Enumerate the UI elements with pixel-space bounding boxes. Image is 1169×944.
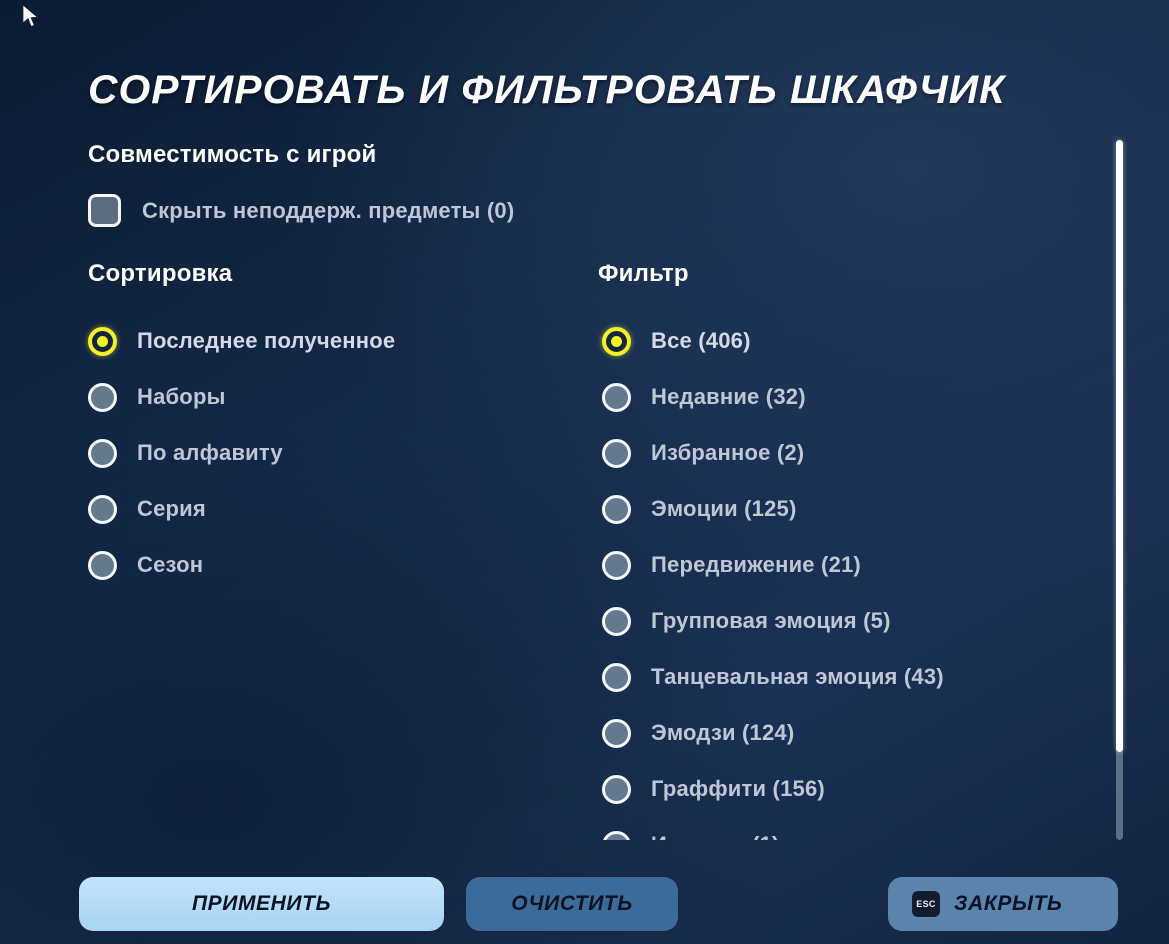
filter-option-label: Эмодзи (124) xyxy=(651,720,794,746)
checkbox-icon[interactable] xyxy=(88,194,121,227)
filter-option-row[interactable]: Эмодзи (124) xyxy=(602,705,944,761)
filter-option-row[interactable]: Недавние (32) xyxy=(602,369,944,425)
filter-option-row[interactable]: Все (406) xyxy=(602,313,944,369)
scrollbar-thumb[interactable] xyxy=(1116,140,1123,752)
radio-unselected-icon[interactable] xyxy=(602,383,631,412)
filter-option-label: Недавние (32) xyxy=(651,384,806,410)
clear-button[interactable]: ОЧИСТИТЬ xyxy=(466,877,678,931)
filter-option-label: Танцевальная эмоция (43) xyxy=(651,664,944,690)
radio-unselected-icon[interactable] xyxy=(602,775,631,804)
clear-button-label: ОЧИСТИТЬ xyxy=(511,892,633,916)
radio-unselected-icon[interactable] xyxy=(602,439,631,468)
filter-option-list: Все (406) Недавние (32) Избранное (2) Эм… xyxy=(602,313,944,840)
radio-unselected-icon[interactable] xyxy=(602,663,631,692)
close-button-label: ЗАКРЫТЬ xyxy=(954,892,1062,916)
filter-option-label: Игрушки (1) xyxy=(651,832,779,840)
filter-option-label: Все (406) xyxy=(651,328,751,354)
filter-option-row[interactable]: Эмоции (125) xyxy=(602,481,944,537)
radio-unselected-icon[interactable] xyxy=(602,551,631,580)
hide-unsupported-checkbox-row[interactable]: Скрыть неподдерж. предметы (0) xyxy=(88,194,514,227)
esc-key-icon: ESC xyxy=(912,891,940,917)
mouse-cursor xyxy=(22,4,40,30)
apply-button[interactable]: ПРИМЕНИТЬ xyxy=(79,877,444,931)
radio-selected-icon[interactable] xyxy=(602,327,631,356)
hide-unsupported-label: Скрыть неподдерж. предметы (0) xyxy=(142,198,514,224)
filter-option-label: Эмоции (125) xyxy=(651,496,797,522)
compatibility-heading: Совместимость с игрой xyxy=(88,141,376,169)
filter-option-label: Избранное (2) xyxy=(651,440,804,466)
apply-button-label: ПРИМЕНИТЬ xyxy=(192,892,331,916)
filter-option-label: Передвижение (21) xyxy=(651,552,861,578)
radio-unselected-icon[interactable] xyxy=(602,719,631,748)
radio-unselected-icon[interactable] xyxy=(602,607,631,636)
filter-option-row[interactable]: Танцевальная эмоция (43) xyxy=(602,649,944,705)
close-button[interactable]: ESC ЗАКРЫТЬ xyxy=(888,877,1118,931)
filter-option-label: Групповая эмоция (5) xyxy=(651,608,891,634)
filter-option-row[interactable]: Избранное (2) xyxy=(602,425,944,481)
filter-option-row[interactable]: Граффити (156) xyxy=(602,761,944,817)
filter-option-row[interactable]: Передвижение (21) xyxy=(602,537,944,593)
radio-unselected-icon[interactable] xyxy=(602,495,631,524)
page-title: СОРТИРОВАТЬ И ФИЛЬТРОВАТЬ ШКАФЧИК xyxy=(88,68,1005,113)
filter-option-label: Граффити (156) xyxy=(651,776,825,802)
filter-scroll-region: Все (406) Недавние (32) Избранное (2) Эм… xyxy=(0,245,1110,840)
radio-unselected-icon[interactable] xyxy=(602,831,631,841)
filter-option-row[interactable]: Игрушки (1) xyxy=(602,817,944,840)
filter-option-row[interactable]: Групповая эмоция (5) xyxy=(602,593,944,649)
vertical-scrollbar[interactable] xyxy=(1116,140,1123,840)
